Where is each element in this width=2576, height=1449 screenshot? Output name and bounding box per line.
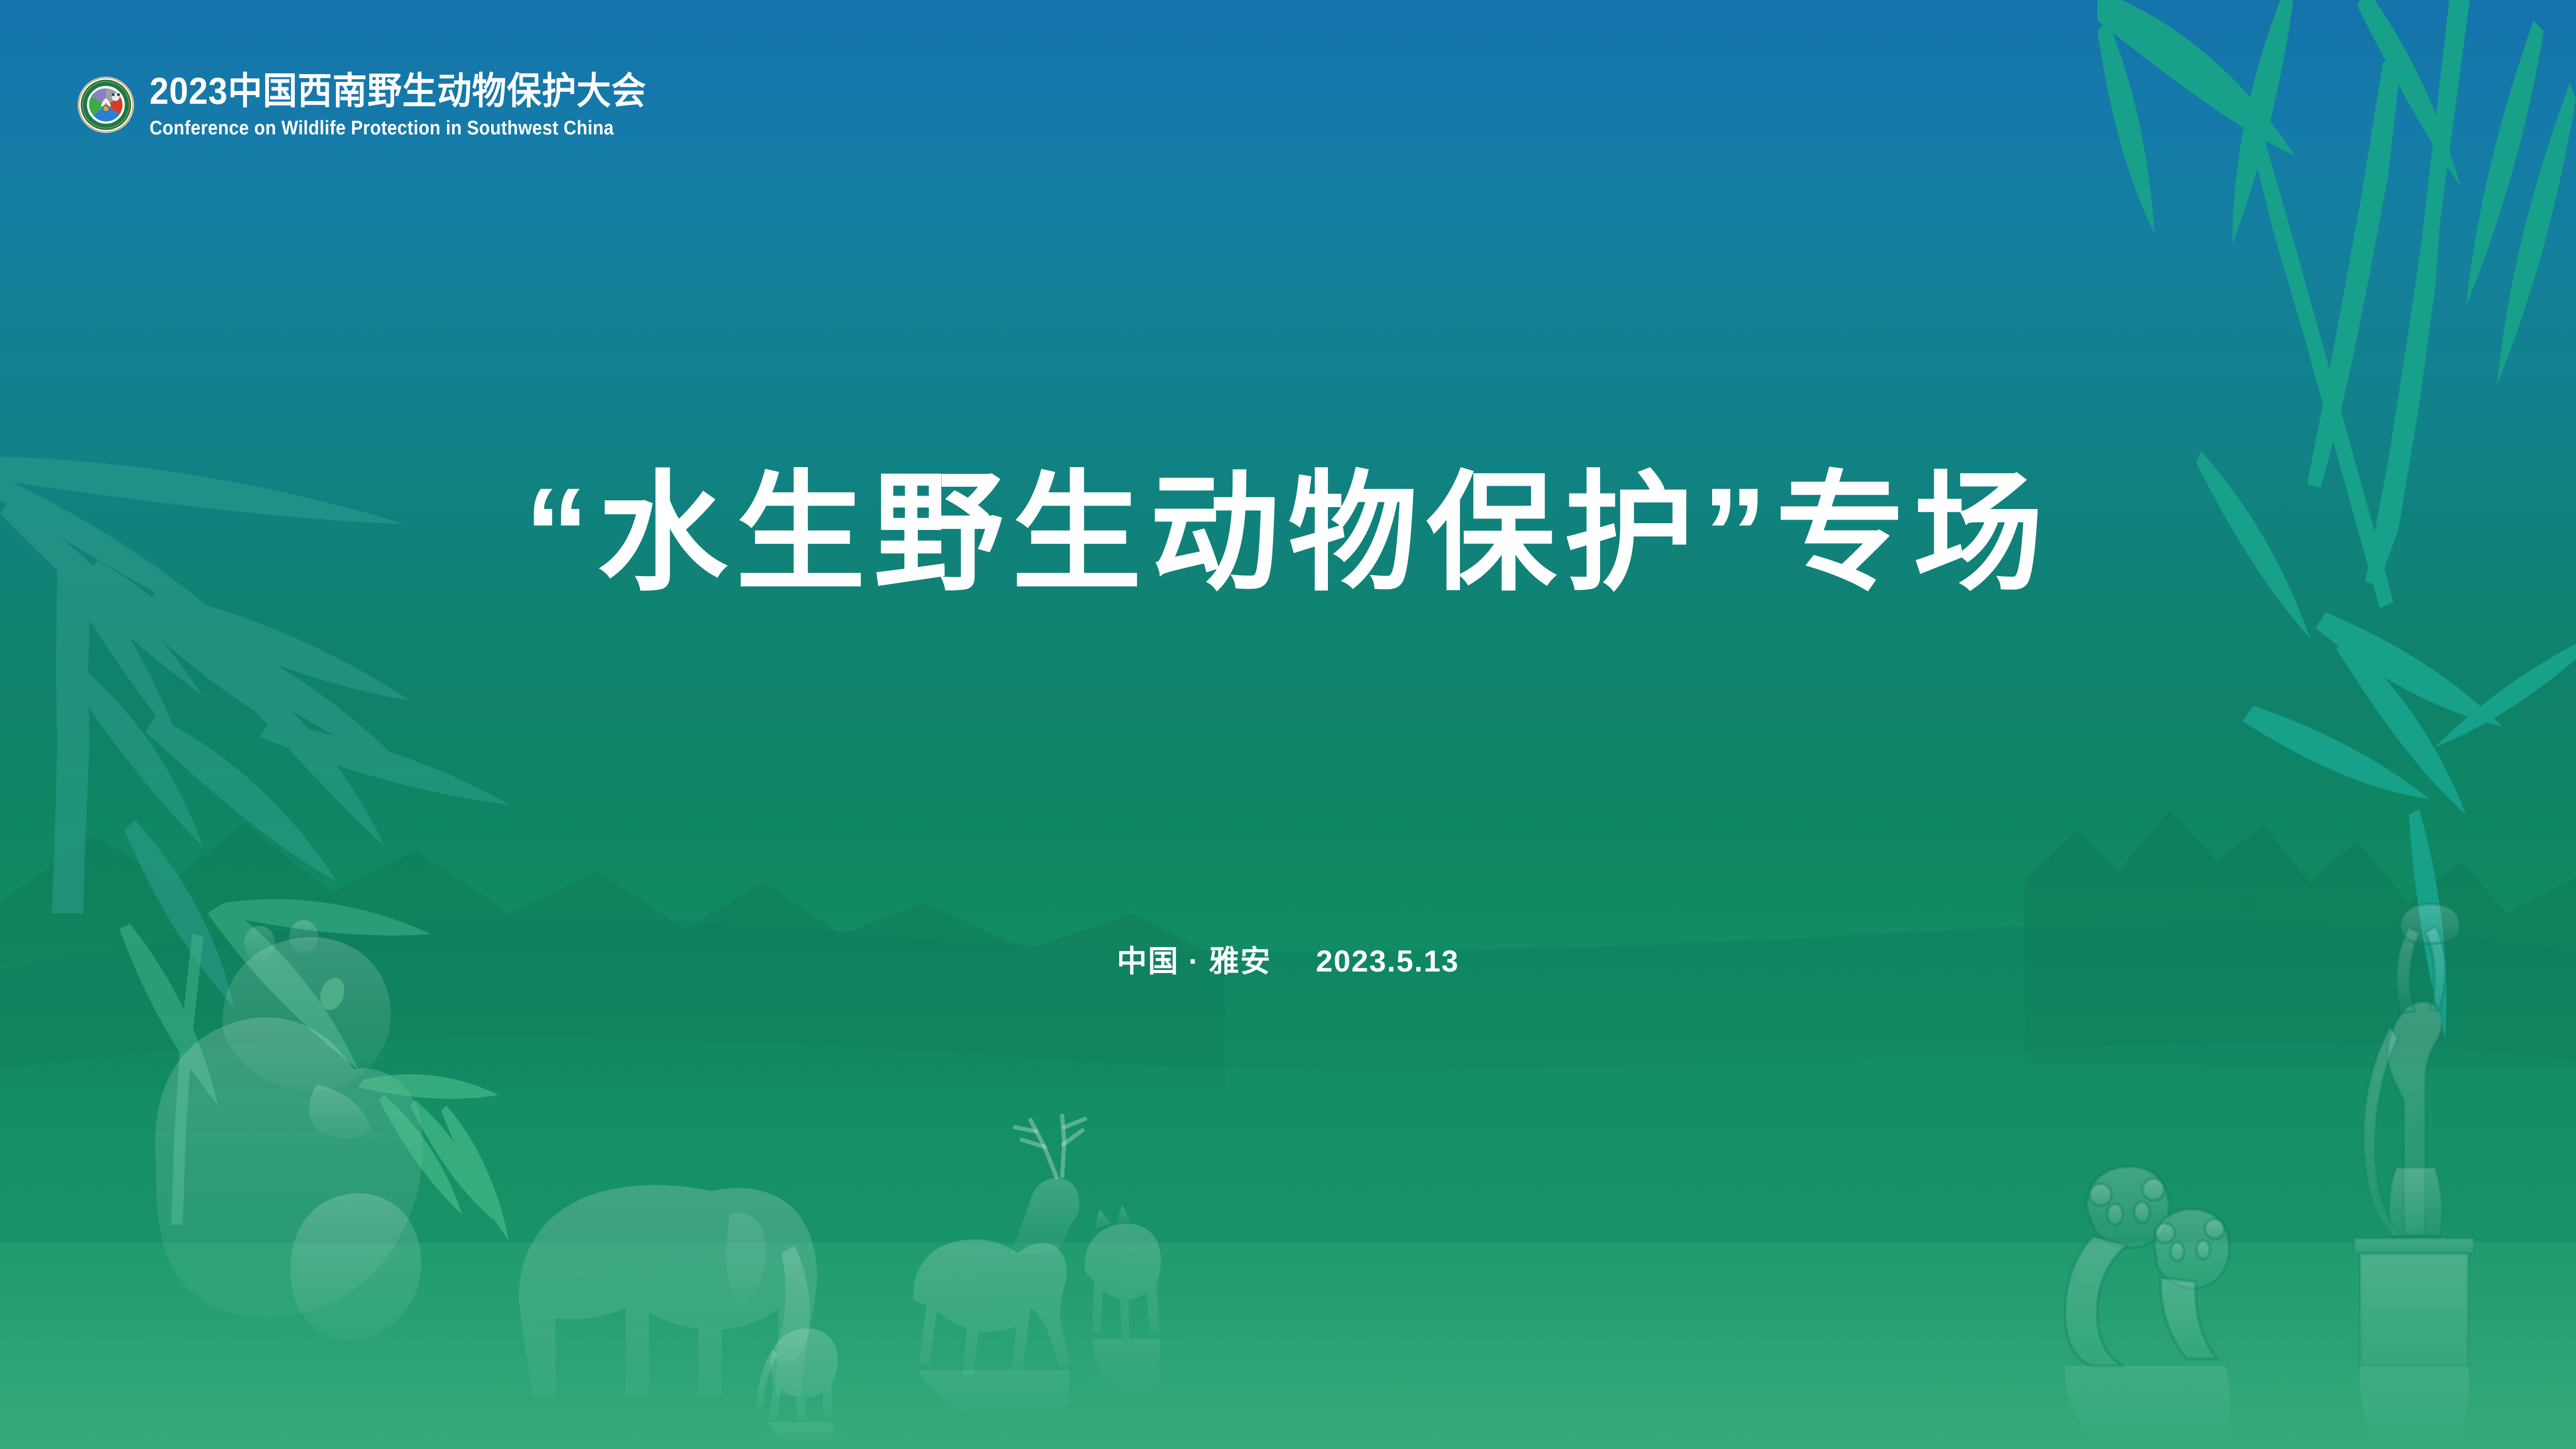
bamboo-leaf-icon	[177, 618, 410, 773]
bamboo-leaf-icon	[260, 721, 509, 804]
water-reflection-icon	[919, 1370, 1069, 1425]
water-reflection-icon	[2360, 1366, 2469, 1449]
bamboo-leaf-icon	[2497, 83, 2576, 384]
bamboo-leaf-icon	[2357, 0, 2461, 187]
page-title: “水生野生动物保护”专场	[524, 457, 2052, 610]
ground-animals-group	[0, 0, 2576, 1449]
panda-statue-icon	[2154, 1209, 2229, 1359]
bamboo-leaf-icon	[2336, 638, 2466, 815]
bamboo-leaf-icon	[2097, 0, 2295, 156]
right-statues-group	[0, 0, 2576, 1449]
panda-statue-icon	[2065, 1167, 2169, 1366]
bamboo-leaf-icon	[208, 903, 358, 1069]
water-reflection-icon	[2065, 1366, 2230, 1443]
event-location: 中国 · 雅安	[1117, 945, 1271, 978]
elephant-icon	[0, 0, 2576, 1449]
bamboo-leaf-icon	[213, 649, 384, 846]
water-reflection-icon	[0, 1243, 2576, 1449]
header-title-en: Conference on Wildlife Protection in Sou…	[150, 117, 635, 140]
water-reflection-icon	[1092, 1339, 1160, 1402]
bamboo-leaf-icon	[2435, 644, 2576, 747]
bamboo-leaf-icon	[2097, 21, 2154, 234]
poster-canvas: 2023中国西南野生动物保护大会 Conference on Wildlife …	[0, 0, 2576, 1449]
statue-pedestal	[2354, 1238, 2474, 1366]
event-date: 2023.5.13	[1316, 945, 1459, 978]
bamboo-leaf-icon	[2409, 810, 2447, 1038]
header: 2023中国西南野生动物保护大会 Conference on Wildlife …	[77, 73, 689, 140]
deer-icon	[913, 1116, 1085, 1375]
bamboo-leaf-icon	[2315, 612, 2502, 727]
scenery-layer	[0, 0, 2576, 1449]
header-title-cn: 2023中国西南野生动物保护大会	[150, 73, 646, 110]
monkey-icon	[756, 1329, 838, 1420]
bamboo-stalk-icon	[2307, 58, 2402, 488]
event-meta: 中国 · 雅安2023.5.13	[1117, 937, 1459, 980]
bamboo-leaf-icon	[145, 716, 337, 882]
wolf-icon	[1084, 1205, 1161, 1339]
giant-panda-icon	[0, 0, 2576, 1449]
wildlife-conference-emblem	[77, 76, 135, 134]
bamboo-leaf-icon	[213, 899, 431, 936]
bamboo-leaf-icon	[2232, 0, 2295, 244]
water-reflection-icon	[768, 1422, 834, 1448]
bamboo-leaf-icon	[2243, 706, 2430, 799]
hill-shape	[0, 918, 2576, 1449]
bamboo-top-right-group	[0, 0, 2576, 1449]
bamboo-left-group	[0, 0, 2576, 1449]
main-title-wrap: “水生野生动物保护”专场	[0, 457, 2576, 610]
meta-wrap: 中国 · 雅安2023.5.13	[0, 937, 2576, 980]
bamboo-leaf-icon	[2466, 21, 2544, 306]
bamboo-stalk-icon	[52, 571, 91, 913]
bamboo-leaf-icon	[67, 664, 202, 846]
hill-shape	[0, 1038, 2576, 1449]
